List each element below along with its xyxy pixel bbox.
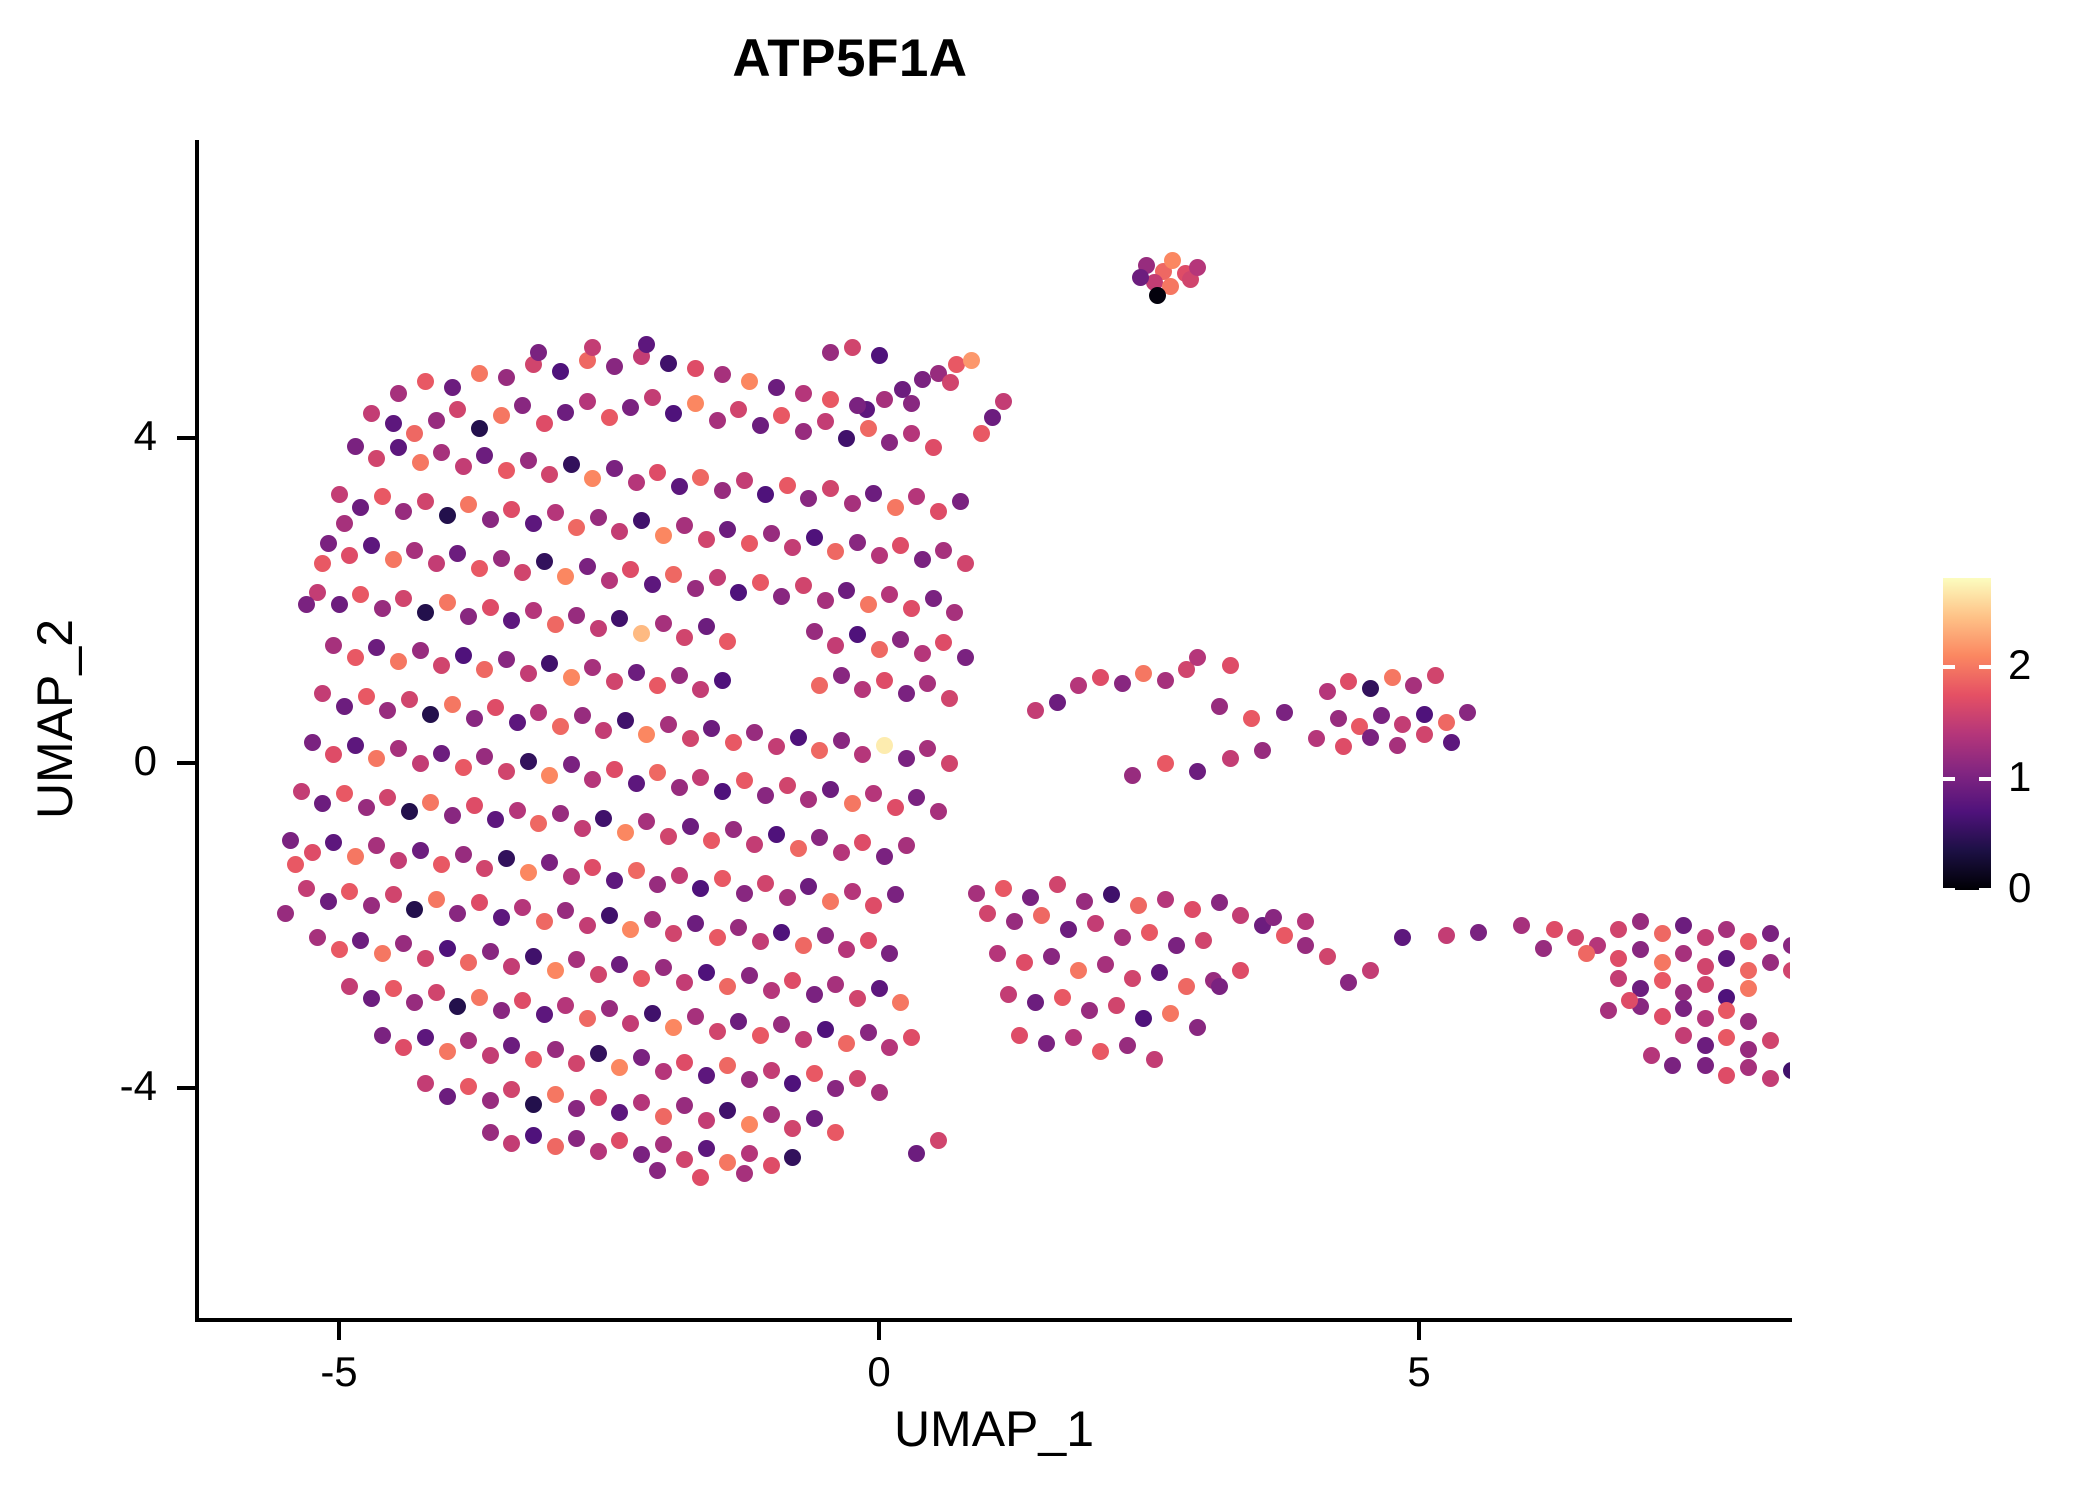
scatter-point (1675, 917, 1692, 934)
scatter-point (628, 474, 645, 491)
scatter-point (1070, 677, 1087, 694)
scatter-point (660, 355, 677, 372)
x-tick-label: 0 (799, 1348, 959, 1396)
scatter-point (682, 818, 699, 835)
scatter-point (525, 1127, 542, 1144)
scatter-point (795, 423, 812, 440)
scatter-point (584, 659, 601, 676)
scatter-point (1097, 956, 1114, 973)
scatter-point (584, 771, 601, 788)
scatter-point (487, 811, 504, 828)
scatter-point (1762, 1070, 1779, 1087)
scatter-point (1081, 1002, 1098, 1019)
scatter-point (568, 1100, 585, 1117)
scatter-point (942, 374, 959, 391)
scatter-point (719, 978, 736, 995)
scatter-point (347, 649, 364, 666)
scatter-point (525, 948, 542, 965)
scatter-point (552, 363, 569, 380)
scatter-point (304, 734, 321, 751)
scatter-point (1151, 964, 1168, 981)
scatter-point (854, 746, 871, 763)
scatter-point (1157, 672, 1174, 689)
scatter-point (817, 592, 834, 609)
scatter-point (714, 783, 731, 800)
colorbar-tick-label: 0 (2008, 864, 2031, 912)
scatter-point (914, 371, 931, 388)
scatter-point (1330, 710, 1347, 727)
scatter-point (379, 789, 396, 806)
scatter-point (1783, 937, 1790, 954)
scatter-point (860, 932, 877, 949)
scatter-point (1211, 698, 1228, 715)
y-tick-label: -4 (37, 1062, 157, 1110)
scatter-point (741, 373, 758, 390)
scatter-point (773, 588, 790, 605)
scatter-point (1664, 1057, 1681, 1074)
scatter-point (725, 734, 742, 751)
scatter-point (417, 950, 434, 967)
scatter-point (347, 848, 364, 865)
scatter-point (671, 867, 688, 884)
scatter-point (412, 842, 429, 859)
scatter-point (1697, 1010, 1714, 1027)
colorbar-tick-mark (1943, 888, 1955, 892)
scatter-point (849, 990, 866, 1007)
scatter-point (536, 1006, 553, 1023)
scatter-point (530, 344, 547, 361)
scatter-point (1632, 913, 1649, 930)
scatter-point (1276, 704, 1293, 721)
scatter-point (606, 761, 623, 778)
scatter-point (752, 933, 769, 950)
scatter-point (1092, 1043, 1109, 1060)
scatter-point (892, 537, 909, 554)
scatter-point (401, 691, 418, 708)
scatter-point (1697, 976, 1714, 993)
scatter-point (1416, 706, 1433, 723)
scatter-point (671, 478, 688, 495)
scatter-point (1438, 714, 1455, 731)
scatter-point (341, 978, 358, 995)
scatter-point (498, 651, 515, 668)
scatter-point (1184, 901, 1201, 918)
scatter-point (304, 844, 321, 861)
scatter-point (655, 527, 672, 544)
scatter-point (692, 769, 709, 786)
scatter-point (827, 1124, 844, 1141)
scatter-point (844, 339, 861, 356)
scatter-point (671, 667, 688, 684)
scatter-point (455, 458, 472, 475)
scatter-point (676, 517, 693, 534)
scatter-point (617, 712, 634, 729)
scatter-point (1108, 997, 1125, 1014)
scatter-point (514, 397, 531, 414)
scatter-point (428, 412, 445, 429)
scatter-point (703, 832, 720, 849)
scatter-point (1654, 954, 1671, 971)
scatter-point (827, 637, 844, 654)
scatter-point (1762, 925, 1779, 942)
scatter-point (584, 859, 601, 876)
y-tick-mark (177, 436, 195, 440)
scatter-point (844, 495, 861, 512)
scatter-point (833, 844, 850, 861)
scatter-point (649, 876, 666, 893)
scatter-point (806, 529, 823, 546)
scatter-point (655, 1136, 672, 1153)
scatter-point (849, 534, 866, 551)
scatter-point (763, 525, 780, 542)
scatter-point (1762, 954, 1779, 971)
scatter-point (838, 430, 855, 447)
scatter-point (552, 718, 569, 735)
scatter-point (547, 1041, 564, 1058)
scatter-point (611, 1104, 628, 1121)
scatter-point (395, 935, 412, 952)
scatter-point (757, 486, 774, 503)
scatter-point (1578, 945, 1595, 962)
scatter-point (1654, 1008, 1671, 1025)
scatter-point (1740, 962, 1757, 979)
colorbar-tick-mark (1943, 665, 1955, 669)
scatter-point (692, 880, 709, 897)
scatter-point (1319, 948, 1336, 965)
scatter-point (557, 568, 574, 585)
scatter-point (1168, 937, 1185, 954)
scatter-point (1135, 665, 1152, 682)
scatter-point (682, 730, 699, 747)
scatter-point (1718, 1029, 1735, 1046)
scatter-point (871, 641, 888, 658)
scatter-point (871, 1084, 888, 1101)
scatter-point (779, 477, 796, 494)
scatter-point (741, 1145, 758, 1162)
scatter-point (1675, 1000, 1692, 1017)
scatter-point (374, 600, 391, 617)
scatter-point (493, 407, 510, 424)
scatter-point (795, 937, 812, 954)
scatter-point (476, 748, 493, 765)
scatter-point (412, 755, 429, 772)
scatter-point (741, 1071, 758, 1088)
scatter-point (320, 893, 337, 910)
scatter-point (1254, 742, 1271, 759)
scatter-point (1178, 978, 1195, 995)
scatter-point (1000, 986, 1017, 1003)
scatter-point (1362, 680, 1379, 697)
scatter-point (665, 1019, 682, 1036)
scatter-point (676, 1097, 693, 1114)
scatter-point (671, 779, 688, 796)
scatter-point (1232, 962, 1249, 979)
scatter-point (768, 379, 785, 396)
scatter-point (536, 553, 553, 570)
scatter-point (676, 1151, 693, 1168)
scatter-point (633, 512, 650, 529)
scatter-point (1211, 894, 1228, 911)
scatter-point (325, 637, 342, 654)
scatter-point (860, 1024, 877, 1041)
scatter-point (417, 1029, 434, 1046)
scatter-point (1762, 1032, 1779, 1049)
scatter-point (1610, 950, 1627, 967)
scatter-point (471, 894, 488, 911)
scatter-point (741, 535, 758, 552)
scatter-point (1697, 929, 1714, 946)
scatter-point (1567, 929, 1584, 946)
scatter-point (736, 1165, 753, 1182)
scatter-point (952, 493, 969, 510)
scatter-point (520, 665, 537, 682)
umap-feature-plot: ATP5F1A 40-4-505 UMAP_1 UMAP_2 210 (0, 0, 2100, 1500)
scatter-point (1011, 1027, 1028, 1044)
scatter-point (536, 913, 553, 930)
scatter-point (800, 490, 817, 507)
scatter-point (784, 972, 801, 989)
x-tick-label: 5 (1339, 1348, 1499, 1396)
scatter-point (1222, 750, 1239, 767)
scatter-point (633, 1049, 650, 1066)
scatter-point (611, 523, 628, 540)
scatter-point (1459, 704, 1476, 721)
scatter-point (773, 924, 790, 941)
scatter-point (482, 599, 499, 616)
scatter-point (503, 1135, 520, 1152)
scatter-point (1103, 886, 1120, 903)
scatter-point (417, 604, 434, 621)
scatter-point (557, 902, 574, 919)
scatter-point (358, 688, 375, 705)
scatter-point (827, 543, 844, 560)
scatter-point (568, 1055, 585, 1072)
scatter-point (390, 385, 407, 402)
scatter-point (1054, 989, 1071, 1006)
scatter-point (314, 555, 331, 572)
scatter-point (352, 932, 369, 949)
x-tick-label: -5 (259, 1348, 419, 1396)
scatter-point (590, 1045, 607, 1062)
scatter-point (568, 951, 585, 968)
scatter-point (649, 464, 666, 481)
scatter-point (298, 596, 315, 613)
scatter-point (687, 360, 704, 377)
scatter-point (1783, 1062, 1790, 1079)
scatter-point (331, 596, 348, 613)
scatter-point (1740, 933, 1757, 950)
scatter-point (736, 772, 753, 789)
scatter-point (730, 401, 747, 418)
scatter-point (1340, 974, 1357, 991)
scatter-point (293, 783, 310, 800)
scatter-point (503, 1081, 520, 1098)
scatter-point (374, 1027, 391, 1044)
scatter-point (563, 756, 580, 773)
scatter-point (925, 590, 942, 607)
page-title: ATP5F1A (0, 28, 1700, 89)
scatter-point (919, 740, 936, 757)
scatter-point (282, 832, 299, 849)
scatter-point (633, 1094, 650, 1111)
scatter-point (881, 586, 898, 603)
scatter-point (552, 805, 569, 822)
scatter-point (1135, 1010, 1152, 1027)
scatter-point (1141, 924, 1158, 941)
scatter-point (655, 615, 672, 632)
scatter-point (817, 413, 834, 430)
scatter-point (1033, 907, 1050, 924)
y-tick-mark (177, 761, 195, 765)
scatter-point (898, 750, 915, 767)
scatter-point (692, 1169, 709, 1186)
scatter-point (946, 604, 963, 621)
scatter-point (439, 1088, 456, 1105)
scatter-point (406, 901, 423, 918)
scatter-point (471, 365, 488, 382)
scatter-point (709, 1023, 726, 1040)
scatter-point (757, 787, 774, 804)
scatter-point (503, 958, 520, 975)
scatter-point (935, 542, 952, 559)
scatter-point (795, 577, 812, 594)
scatter-point (498, 369, 515, 386)
scatter-point (336, 785, 353, 802)
scatter-point (1610, 921, 1627, 938)
scatter-point (1297, 937, 1314, 954)
scatter-point (476, 447, 493, 464)
scatter-point (1697, 958, 1714, 975)
scatter-point (763, 1106, 780, 1123)
scatter-point (547, 1086, 564, 1103)
scatter-point (887, 799, 904, 816)
scatter-point (1718, 1067, 1735, 1084)
scatter-point (903, 1029, 920, 1046)
scatter-point (692, 681, 709, 698)
scatter-point (352, 499, 369, 516)
scatter-point (584, 470, 601, 487)
scatter-point (649, 1162, 666, 1179)
scatter-point (908, 488, 925, 505)
scatter-point (444, 807, 461, 824)
scatter-point (368, 639, 385, 656)
scatter-point (1243, 710, 1260, 727)
scatter-point (822, 344, 839, 361)
scatter-point (444, 696, 461, 713)
scatter-point (363, 537, 380, 554)
scatter-point (1076, 893, 1093, 910)
scatter-point (898, 685, 915, 702)
scatter-point (574, 707, 591, 724)
scatter-point (876, 737, 893, 754)
scatter-point (433, 444, 450, 461)
scatter-point (914, 645, 931, 662)
scatter-point (692, 469, 709, 486)
scatter-point (1470, 924, 1487, 941)
scatter-point (331, 486, 348, 503)
scatter-point (1654, 972, 1671, 989)
scatter-point (784, 1120, 801, 1137)
scatter-point (1443, 734, 1460, 751)
colorbar-tick-label: 1 (2008, 753, 2031, 801)
scatter-point (503, 501, 520, 518)
scatter-point (838, 1035, 855, 1052)
scatter-point (514, 992, 531, 1009)
scatter-point (665, 566, 682, 583)
scatter-point (887, 886, 904, 903)
scatter-point (698, 964, 715, 981)
scatter-point (795, 385, 812, 402)
scatter-point (557, 404, 574, 421)
scatter-point (892, 994, 909, 1011)
scatter-point (1130, 897, 1147, 914)
scatter-point (795, 1031, 812, 1048)
scatter-point (601, 907, 618, 924)
scatter-point (374, 945, 391, 962)
y-tick-mark (177, 1086, 195, 1090)
scatter-point (579, 1010, 596, 1027)
scatter-point (520, 864, 537, 881)
scatter-point (995, 393, 1012, 410)
scatter-point (557, 997, 574, 1014)
scatter-point (1546, 921, 1563, 938)
x-axis-label: UMAP_1 (198, 1400, 1790, 1458)
scatter-point (347, 438, 364, 455)
scatter-point (568, 519, 585, 536)
scatter-point (611, 1059, 628, 1076)
scatter-point (1276, 927, 1293, 944)
scatter-point (806, 1065, 823, 1082)
scatter-point (763, 1157, 780, 1174)
scatter-point (784, 1075, 801, 1092)
scatter-point (660, 828, 677, 845)
scatter-point (439, 940, 456, 957)
scatter-point (914, 551, 931, 568)
scatter-point (822, 893, 839, 910)
colorbar-tick-mark (1979, 665, 1991, 669)
scatter-point (644, 576, 661, 593)
scatter-point (476, 860, 493, 877)
scatter-point (525, 515, 542, 532)
scatter-point (514, 899, 531, 916)
scatter-point (989, 945, 1006, 962)
scatter-point (390, 852, 407, 869)
scatter-point (1389, 737, 1406, 754)
scatter-point (1146, 1051, 1163, 1068)
scatter-point (428, 555, 445, 572)
scatter-point (341, 883, 358, 900)
scatter-point (736, 472, 753, 489)
scatter-point (1394, 716, 1411, 733)
scatter-point (790, 840, 807, 857)
colorbar-tick-mark (1979, 777, 1991, 781)
scatter-point (822, 781, 839, 798)
scatter-point (849, 1070, 866, 1087)
scatter-point (833, 732, 850, 749)
scatter-point (395, 1039, 412, 1056)
scatter-point (779, 777, 796, 794)
scatter-point (520, 753, 537, 770)
scatter-point (1124, 970, 1141, 987)
scatter-point (827, 976, 844, 993)
scatter-point (1222, 657, 1239, 674)
scatter-point (644, 911, 661, 928)
scatter-point (1132, 269, 1149, 286)
scatter-point (1065, 1029, 1082, 1046)
scatter-point (703, 720, 720, 737)
scatter-point (368, 750, 385, 767)
scatter-point (871, 547, 888, 564)
